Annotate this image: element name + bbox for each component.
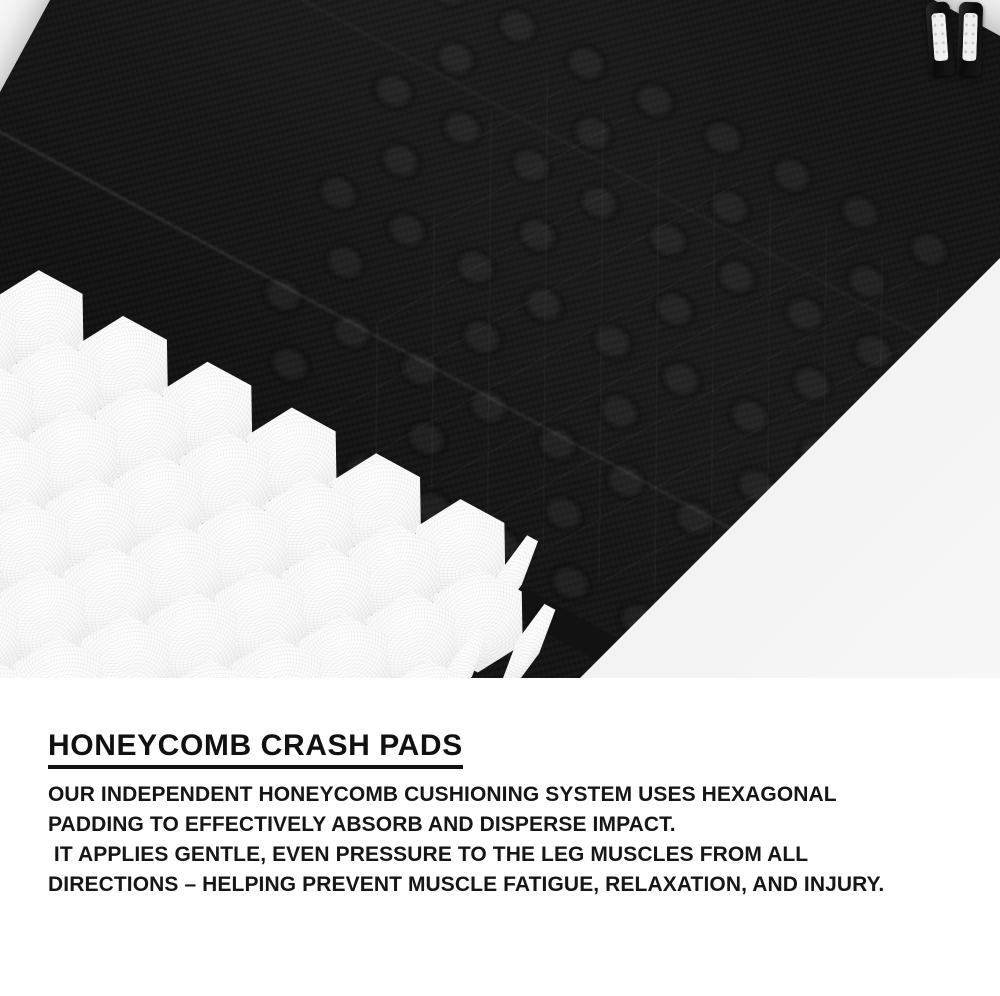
- product-feature-card: HONEYCOMB CRASH PADS OUR INDEPENDENT HON…: [0, 0, 1000, 996]
- drawstring-cord-right: [957, 2, 984, 77]
- caption-line: DIRECTIONS – HELPING PREVENT MUSCLE FATI…: [48, 870, 968, 900]
- caption-line: PADDING TO EFFECTIVELY ABSORB AND DISPER…: [48, 810, 968, 840]
- drawstring-cord-left: [925, 1, 954, 76]
- caption-body: OUR INDEPENDENT HONEYCOMB CUSHIONING SYS…: [48, 780, 968, 900]
- caption-title: HONEYCOMB CRASH PADS: [48, 730, 463, 769]
- product-photo: [0, 0, 1000, 678]
- caption-line: IT APPLIES GENTLE, EVEN PRESSURE TO THE …: [48, 840, 968, 870]
- caption-line: OUR INDEPENDENT HONEYCOMB CUSHIONING SYS…: [48, 780, 968, 810]
- caption-block: HONEYCOMB CRASH PADS OUR INDEPENDENT HON…: [0, 678, 1000, 996]
- cord-honeycomb-insert: [962, 13, 978, 61]
- drawstring-cords: [928, 2, 990, 78]
- cord-honeycomb-insert: [931, 13, 948, 62]
